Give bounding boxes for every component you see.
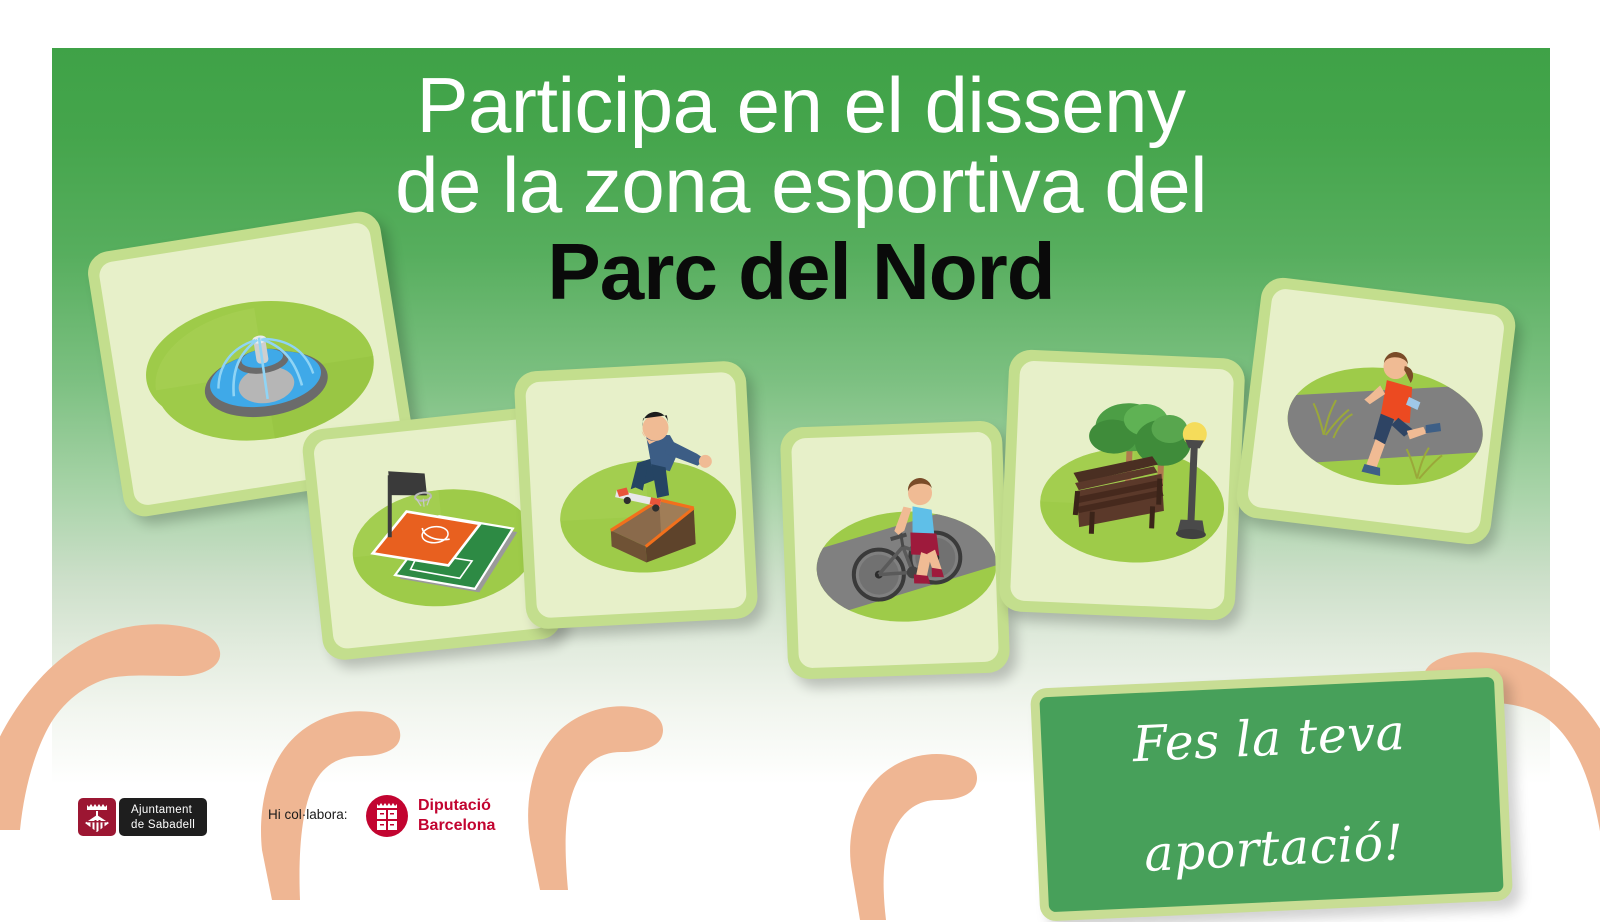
diputacio-crest-icon [366,795,408,837]
diputacio-line-2: Barcelona [418,816,495,836]
ajuntament-line-2: de Sabadell [131,818,195,832]
diputacio-line-1: Diputació [418,796,495,816]
sabadell-crest-icon [78,798,116,836]
diputacio-name: Diputació Barcelona [418,796,495,835]
sabadell-shield-icon [78,798,116,836]
collaborator-label: Hi col·labora: [268,807,348,822]
poster-canvas: Participa en el disseny de la zona espor… [0,0,1600,900]
cta-line-1: Fes la teva [1132,706,1407,773]
ajuntament-line-1: Ajuntament [131,803,195,817]
ajuntament-name-plate: Ajuntament de Sabadell [119,798,207,836]
ajuntament-sabadell-logo[interactable]: Ajuntament de Sabadell [78,798,207,836]
diputacio-seal-icon [366,795,408,837]
diputacio-barcelona-logo[interactable]: Diputació Barcelona [366,795,495,837]
footer-logos: Ajuntament de Sabadell Hi col·labora: [0,790,1600,860]
